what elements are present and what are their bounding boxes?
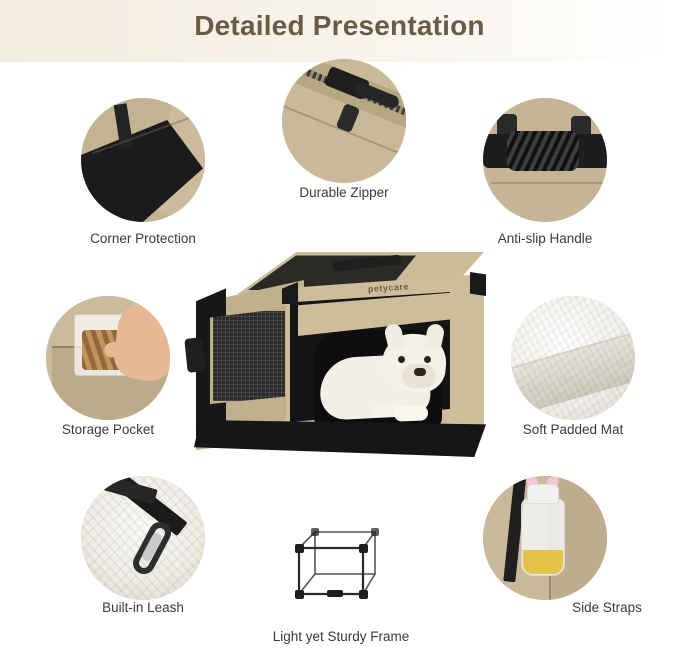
dog-paw-right [394,405,429,421]
dog-eye-right [424,356,431,363]
product-infographic: Detailed Presentation Corner Protection … [0,0,679,650]
caption-side-straps: Side Straps [507,600,679,615]
feature-thumbnail-durable-zipper [282,59,406,183]
crate-corner-guard-front-right [470,272,486,296]
mat-fleece-texture [511,296,635,420]
caption-soft-padded-mat: Soft Padded Mat [473,422,673,437]
caption-built-in-leash: Built-in Leash [43,600,243,615]
feature-thumbnail-soft-padded-mat [511,296,635,420]
feature-thumbnail-built-in-leash [81,476,205,600]
page-title: Detailed Presentation [0,10,679,42]
caption-frame: Light yet Sturdy Frame [241,629,441,644]
frame-wireframe-illustration [279,502,403,626]
caption-durable-zipper: Durable Zipper [244,185,444,200]
feature-thumbnail-anti-slip-handle [483,98,607,222]
feature-thumbnail-storage-pocket [46,296,170,420]
water-bottle-cap [527,484,559,504]
crate-side-mesh-window [210,308,288,404]
dog-nose [414,368,426,376]
crate-base-trim [194,420,486,464]
product-image-dog-crate: petycare [186,252,494,470]
handle-rubber-grip [507,131,579,171]
handle-panel-seam [491,182,607,184]
dog-eye-left [398,356,405,363]
caption-anti-slip-handle: Anti-slip Handle [445,231,645,246]
feature-thumbnail-corner-protection [81,98,205,222]
caption-corner-protection: Corner Protection [43,231,243,246]
crate-side-handle [184,337,205,373]
feature-thumbnail-frame [279,502,403,626]
caption-storage-pocket: Storage Pocket [8,422,208,437]
feature-thumbnail-side-straps [483,476,607,600]
water-bottle-liquid [523,550,563,574]
